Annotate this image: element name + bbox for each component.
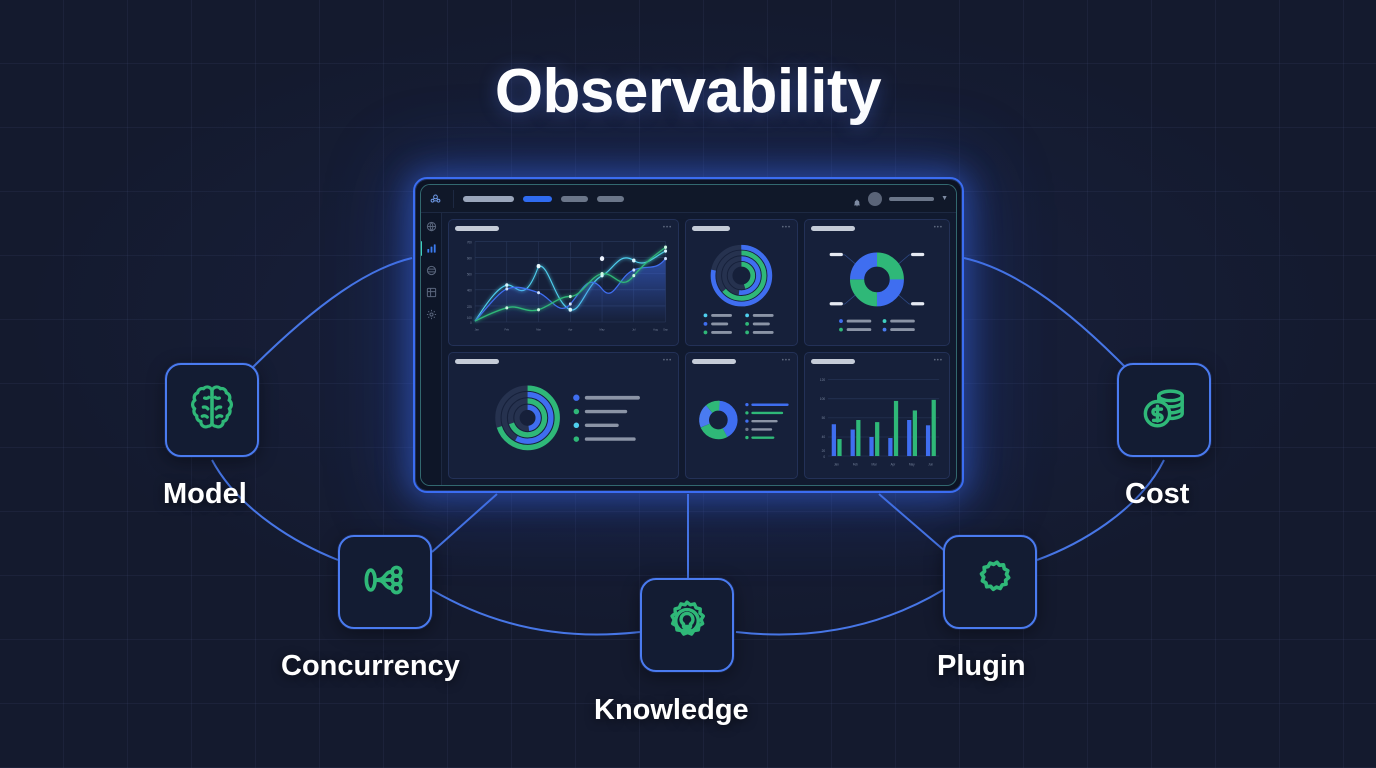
bar-chart-icon[interactable]	[426, 243, 437, 254]
fork-branch-icon	[359, 554, 411, 611]
ring-list-panel[interactable]: •••	[448, 352, 679, 479]
workspace-pill[interactable]	[463, 196, 514, 202]
node-label-concurrency: Concurrency	[281, 650, 460, 683]
panel-title-placeholder	[692, 359, 736, 364]
svg-text:Apr: Apr	[891, 462, 897, 466]
node-concurrency[interactable]	[338, 535, 432, 629]
user-name-bar	[889, 197, 934, 201]
svg-text:May: May	[909, 462, 915, 466]
panel-menu-icon[interactable]: •••	[663, 358, 672, 364]
svg-text:20: 20	[822, 449, 826, 453]
brain-icon	[186, 382, 238, 439]
bell-icon[interactable]	[853, 194, 861, 204]
svg-text:Jun: Jun	[928, 462, 933, 466]
chevron-down-icon[interactable]: ▼	[941, 195, 948, 202]
node-model[interactable]	[165, 363, 259, 457]
svg-text:600: 600	[467, 256, 472, 260]
panel-title-placeholder	[455, 226, 499, 231]
svg-text:50: 50	[822, 416, 826, 420]
node-label-cost: Cost	[1125, 478, 1189, 511]
app-logo-icon[interactable]	[429, 192, 442, 205]
node-label-plugin: Plugin	[937, 650, 1026, 683]
donut-callout-chart	[811, 234, 943, 340]
gear-icon	[964, 554, 1016, 611]
tab-active[interactable]	[523, 196, 552, 202]
svg-text:400: 400	[467, 289, 472, 293]
topbar-divider	[453, 190, 454, 208]
radial-rings-chart	[692, 234, 791, 340]
donut-bars-chart	[692, 367, 791, 473]
radial-panel[interactable]: •••	[685, 219, 798, 346]
svg-text:40: 40	[822, 435, 826, 439]
user-avatar[interactable]	[868, 192, 882, 206]
svg-text:225: 225	[467, 305, 472, 309]
svg-text:100: 100	[820, 397, 825, 401]
segment-panel[interactable]: •••	[804, 219, 950, 346]
settings-gear-icon[interactable]	[426, 309, 437, 320]
traces-globe-icon[interactable]	[426, 265, 437, 276]
svg-text:0: 0	[823, 455, 825, 459]
svg-text:Mar: Mar	[872, 462, 878, 466]
bar-panel[interactable]: ••• 120100 5040 200	[804, 352, 950, 479]
line-chart: 700 600 500 400 225 100 0	[455, 234, 672, 340]
dashboard-panels: •••	[442, 213, 956, 485]
node-plugin[interactable]	[943, 535, 1037, 629]
panel-title-placeholder	[455, 359, 499, 364]
svg-text:Sep: Sep	[663, 327, 668, 331]
panel-menu-icon[interactable]: •••	[782, 225, 791, 231]
svg-text:Apr: Apr	[568, 327, 572, 331]
trend-panel[interactable]: •••	[448, 219, 679, 346]
node-label-knowledge: Knowledge	[594, 694, 749, 727]
svg-text:Feb: Feb	[505, 327, 510, 331]
dashboard-topbar: ▼	[421, 185, 956, 213]
distribution-panel[interactable]: •••	[685, 352, 798, 479]
grouped-bar-chart: 120100 5040 200	[811, 367, 943, 473]
panel-menu-icon[interactable]: •••	[663, 225, 672, 231]
globe-icon[interactable]	[426, 221, 437, 232]
svg-text:500: 500	[467, 272, 472, 276]
node-label-model: Model	[163, 478, 247, 511]
panel-menu-icon[interactable]: •••	[934, 358, 943, 364]
panel-title-placeholder	[692, 226, 730, 231]
node-cost[interactable]	[1117, 363, 1211, 457]
tab-three[interactable]	[597, 196, 624, 202]
svg-text:May: May	[600, 327, 606, 331]
svg-text:120: 120	[820, 378, 825, 382]
panel-menu-icon[interactable]: •••	[782, 358, 791, 364]
tab-two[interactable]	[561, 196, 588, 202]
svg-text:Jan: Jan	[834, 462, 839, 466]
node-knowledge[interactable]	[640, 578, 734, 672]
dashboard-sidebar	[421, 213, 442, 485]
svg-text:100: 100	[467, 316, 472, 320]
svg-text:0: 0	[470, 321, 472, 325]
lightbulb-gear-icon	[661, 597, 713, 654]
radial-rings-list-chart	[455, 367, 672, 473]
svg-text:Feb: Feb	[853, 462, 858, 466]
svg-text:Jul: Jul	[632, 327, 636, 331]
svg-text:700: 700	[467, 240, 472, 244]
panel-menu-icon[interactable]: •••	[934, 225, 943, 231]
svg-text:Aug: Aug	[653, 327, 658, 331]
svg-text:Jan: Jan	[475, 327, 480, 331]
grid-icon[interactable]	[426, 287, 437, 298]
svg-text:Mar: Mar	[536, 327, 541, 331]
panel-title-placeholder	[811, 359, 855, 364]
dashboard-mockup[interactable]: ▼	[413, 177, 964, 493]
coins-dollar-icon	[1138, 382, 1190, 439]
panel-title-placeholder	[811, 226, 855, 231]
